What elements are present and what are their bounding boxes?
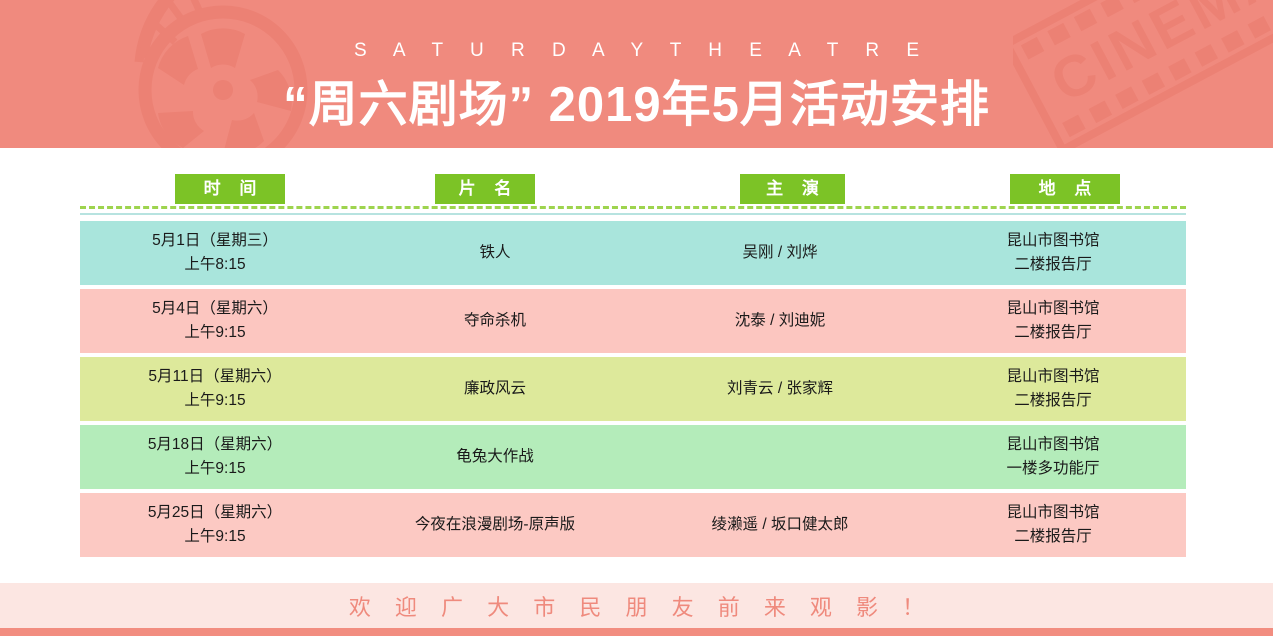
cell-venue: 昆山市图书馆 二楼报告厅 xyxy=(920,365,1186,413)
cell-venue: 昆山市图书馆 二楼报告厅 xyxy=(920,501,1186,549)
banner-eyebrow: S A T U R D A Y T H E A T R E xyxy=(0,41,1273,60)
cell-title: 今夜在浪漫剧场-原声版 xyxy=(350,513,640,537)
cell-cast: 沈泰 / 刘迪妮 xyxy=(640,309,920,333)
footer-message: 欢 迎 广 大 市 民 朋 友 前 来 观 影 ！ xyxy=(340,590,933,622)
cell-time: 5月11日（星期六） 上午9:15 xyxy=(80,365,350,413)
table-row: 5月11日（星期六） 上午9:15 廉政风云 刘青云 / 张家辉 昆山市图书馆 … xyxy=(80,357,1186,421)
footer-band: 欢 迎 广 大 市 民 朋 友 前 来 观 影 ！ xyxy=(0,583,1273,628)
cell-venue: 昆山市图书馆 二楼报告厅 xyxy=(920,229,1186,277)
header-thin-divider xyxy=(80,213,1186,215)
cell-title: 夺命杀机 xyxy=(350,309,640,333)
cell-time: 5月25日（星期六） 上午9:15 xyxy=(80,501,350,549)
cell-cast: 绫濑遥 / 坂口健太郎 xyxy=(640,513,920,537)
table-body: 5月1日（星期三） 上午8:15 铁人 吴刚 / 刘烨 昆山市图书馆 二楼报告厅… xyxy=(80,221,1186,557)
column-header-title: 片 名 xyxy=(435,174,535,204)
cell-time: 5月18日（星期六） 上午9:15 xyxy=(80,433,350,481)
schedule-table: 时 间 片 名 主 演 地 点 5月1日（星期三） 上午8:15 铁人 吴刚 /… xyxy=(80,174,1186,561)
cell-title: 铁人 xyxy=(350,241,640,265)
table-row: 5月4日（星期六） 上午9:15 夺命杀机 沈泰 / 刘迪妮 昆山市图书馆 二楼… xyxy=(80,289,1186,353)
page-title: “周六剧场” 2019年5月活动安排 xyxy=(0,77,1273,134)
header-dotted-divider xyxy=(80,206,1186,209)
cell-time: 5月1日（星期三） 上午8:15 xyxy=(80,229,350,277)
table-row: 5月25日（星期六） 上午9:15 今夜在浪漫剧场-原声版 绫濑遥 / 坂口健太… xyxy=(80,493,1186,557)
cell-cast: 吴刚 / 刘烨 xyxy=(640,241,920,265)
column-header-venue: 地 点 xyxy=(1010,174,1120,204)
cell-venue: 昆山市图书馆 一楼多功能厅 xyxy=(920,433,1186,481)
footer-accent-bar xyxy=(0,628,1273,636)
cell-cast: 刘青云 / 张家辉 xyxy=(640,377,920,401)
cell-venue: 昆山市图书馆 二楼报告厅 xyxy=(920,297,1186,345)
column-header-time: 时 间 xyxy=(175,174,285,204)
cell-time: 5月4日（星期六） 上午9:15 xyxy=(80,297,350,345)
cell-title: 廉政风云 xyxy=(350,377,640,401)
cell-title: 龟兔大作战 xyxy=(350,445,640,469)
header-banner: CINEMA S A T U R D A Y T H E A T R E “周六… xyxy=(0,0,1273,148)
column-header-row: 时 间 片 名 主 演 地 点 xyxy=(80,174,1186,206)
table-row: 5月18日（星期六） 上午9:15 龟兔大作战 昆山市图书馆 一楼多功能厅 xyxy=(80,425,1186,489)
table-row: 5月1日（星期三） 上午8:15 铁人 吴刚 / 刘烨 昆山市图书馆 二楼报告厅 xyxy=(80,221,1186,285)
column-header-cast: 主 演 xyxy=(740,174,845,204)
